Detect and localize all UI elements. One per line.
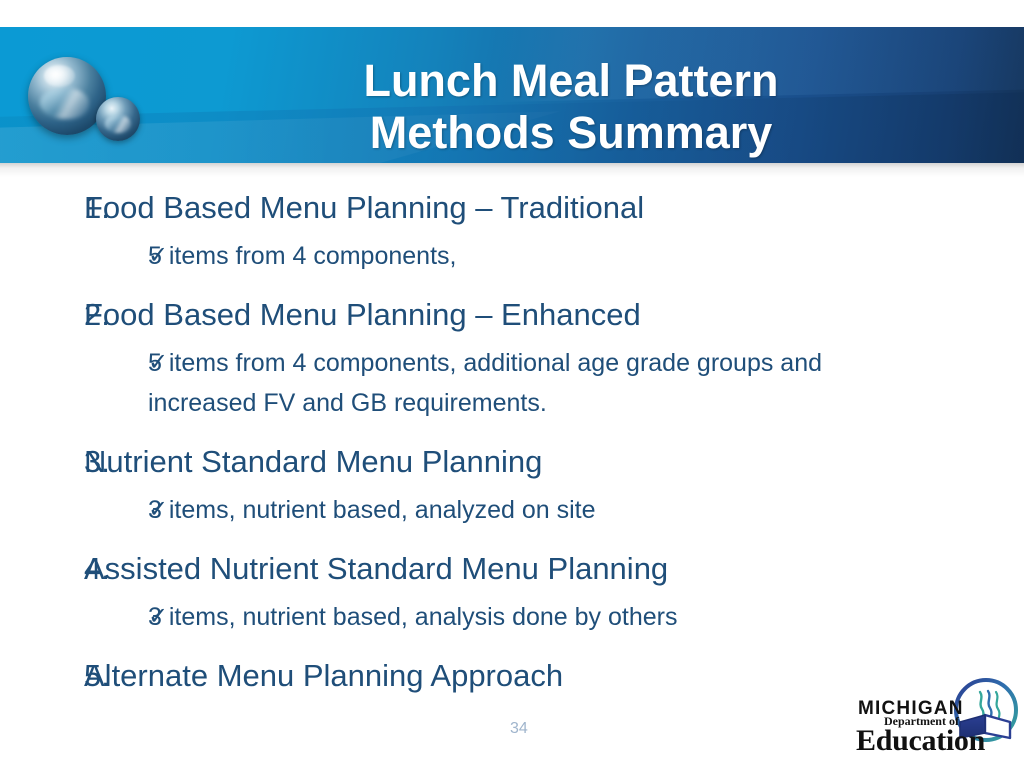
sub-list-item: ✓ 3 items, nutrient based, analysis done… xyxy=(0,597,1024,637)
list-item: 2. Food Based Menu Planning – Enhanced xyxy=(0,292,1024,338)
check-icon: ✓ xyxy=(0,490,148,530)
sub-list-item: ✓ 5 items from 4 components, additional … xyxy=(0,343,1024,423)
slide: Lunch Meal Pattern Methods Summary 1. Fo… xyxy=(0,0,1024,768)
list-item-label: Food Based Menu Planning – Traditional xyxy=(84,185,1024,231)
sub-list-item-label: 5 items from 4 components, xyxy=(148,236,456,276)
spacer xyxy=(0,637,1024,653)
check-icon: ✓ xyxy=(0,343,148,383)
list-item-label: Nutrient Standard Menu Planning xyxy=(84,439,1024,485)
decorative-spheres xyxy=(22,35,162,155)
sub-list-item: ✓ 5 items from 4 components, xyxy=(0,236,1024,276)
spacer xyxy=(0,276,1024,292)
sub-list-item-label: 3 items, nutrient based, analysis done b… xyxy=(148,597,677,637)
chrome-sphere-small-icon xyxy=(96,97,140,141)
list-item: 4. Assisted Nutrient Standard Menu Plann… xyxy=(0,546,1024,592)
page-number: 34 xyxy=(510,720,528,738)
page-title: Lunch Meal Pattern Methods Summary xyxy=(176,55,966,159)
list-item: 1. Food Based Menu Planning – Traditiona… xyxy=(0,185,1024,231)
list-item-number: 5. xyxy=(0,653,84,699)
logo-line-education: Education xyxy=(856,725,985,757)
list-item-label: Assisted Nutrient Standard Menu Planning xyxy=(84,546,1024,592)
list-item-number: 3. xyxy=(0,439,84,485)
sub-list-item: ✓ 3 items, nutrient based, analyzed on s… xyxy=(0,490,1024,530)
spacer xyxy=(0,423,1024,439)
check-icon: ✓ xyxy=(0,236,148,276)
slide-body-list: 1. Food Based Menu Planning – Traditiona… xyxy=(0,185,1024,699)
page-title-line-1: Lunch Meal Pattern xyxy=(176,55,966,107)
list-item-number: 2. xyxy=(0,292,84,338)
sub-list-item-label: 5 items from 4 components, additional ag… xyxy=(148,343,908,423)
list-item-label: Food Based Menu Planning – Enhanced xyxy=(84,292,1024,338)
chrome-sphere-large-icon xyxy=(28,57,106,135)
slide-header-banner: Lunch Meal Pattern Methods Summary xyxy=(0,0,1024,163)
list-item: 3. Nutrient Standard Menu Planning xyxy=(0,439,1024,485)
logo-wordmark: MICHIGAN Department of Education xyxy=(856,699,986,759)
michigan-department-of-education-logo: MICHIGAN Department of Education xyxy=(856,676,1024,760)
list-item-number: 4. xyxy=(0,546,84,592)
page-title-line-2: Methods Summary xyxy=(176,107,966,159)
banner-drop-shadow xyxy=(0,163,1024,177)
banner-top-strip xyxy=(0,0,1024,25)
list-item-number: 1. xyxy=(0,185,84,231)
sphere-highlight xyxy=(44,65,75,87)
check-icon: ✓ xyxy=(0,597,148,637)
sub-list-item-label: 3 items, nutrient based, analyzed on sit… xyxy=(148,490,596,530)
spacer xyxy=(0,530,1024,546)
banner-gradient-body: Lunch Meal Pattern Methods Summary xyxy=(0,27,1024,163)
